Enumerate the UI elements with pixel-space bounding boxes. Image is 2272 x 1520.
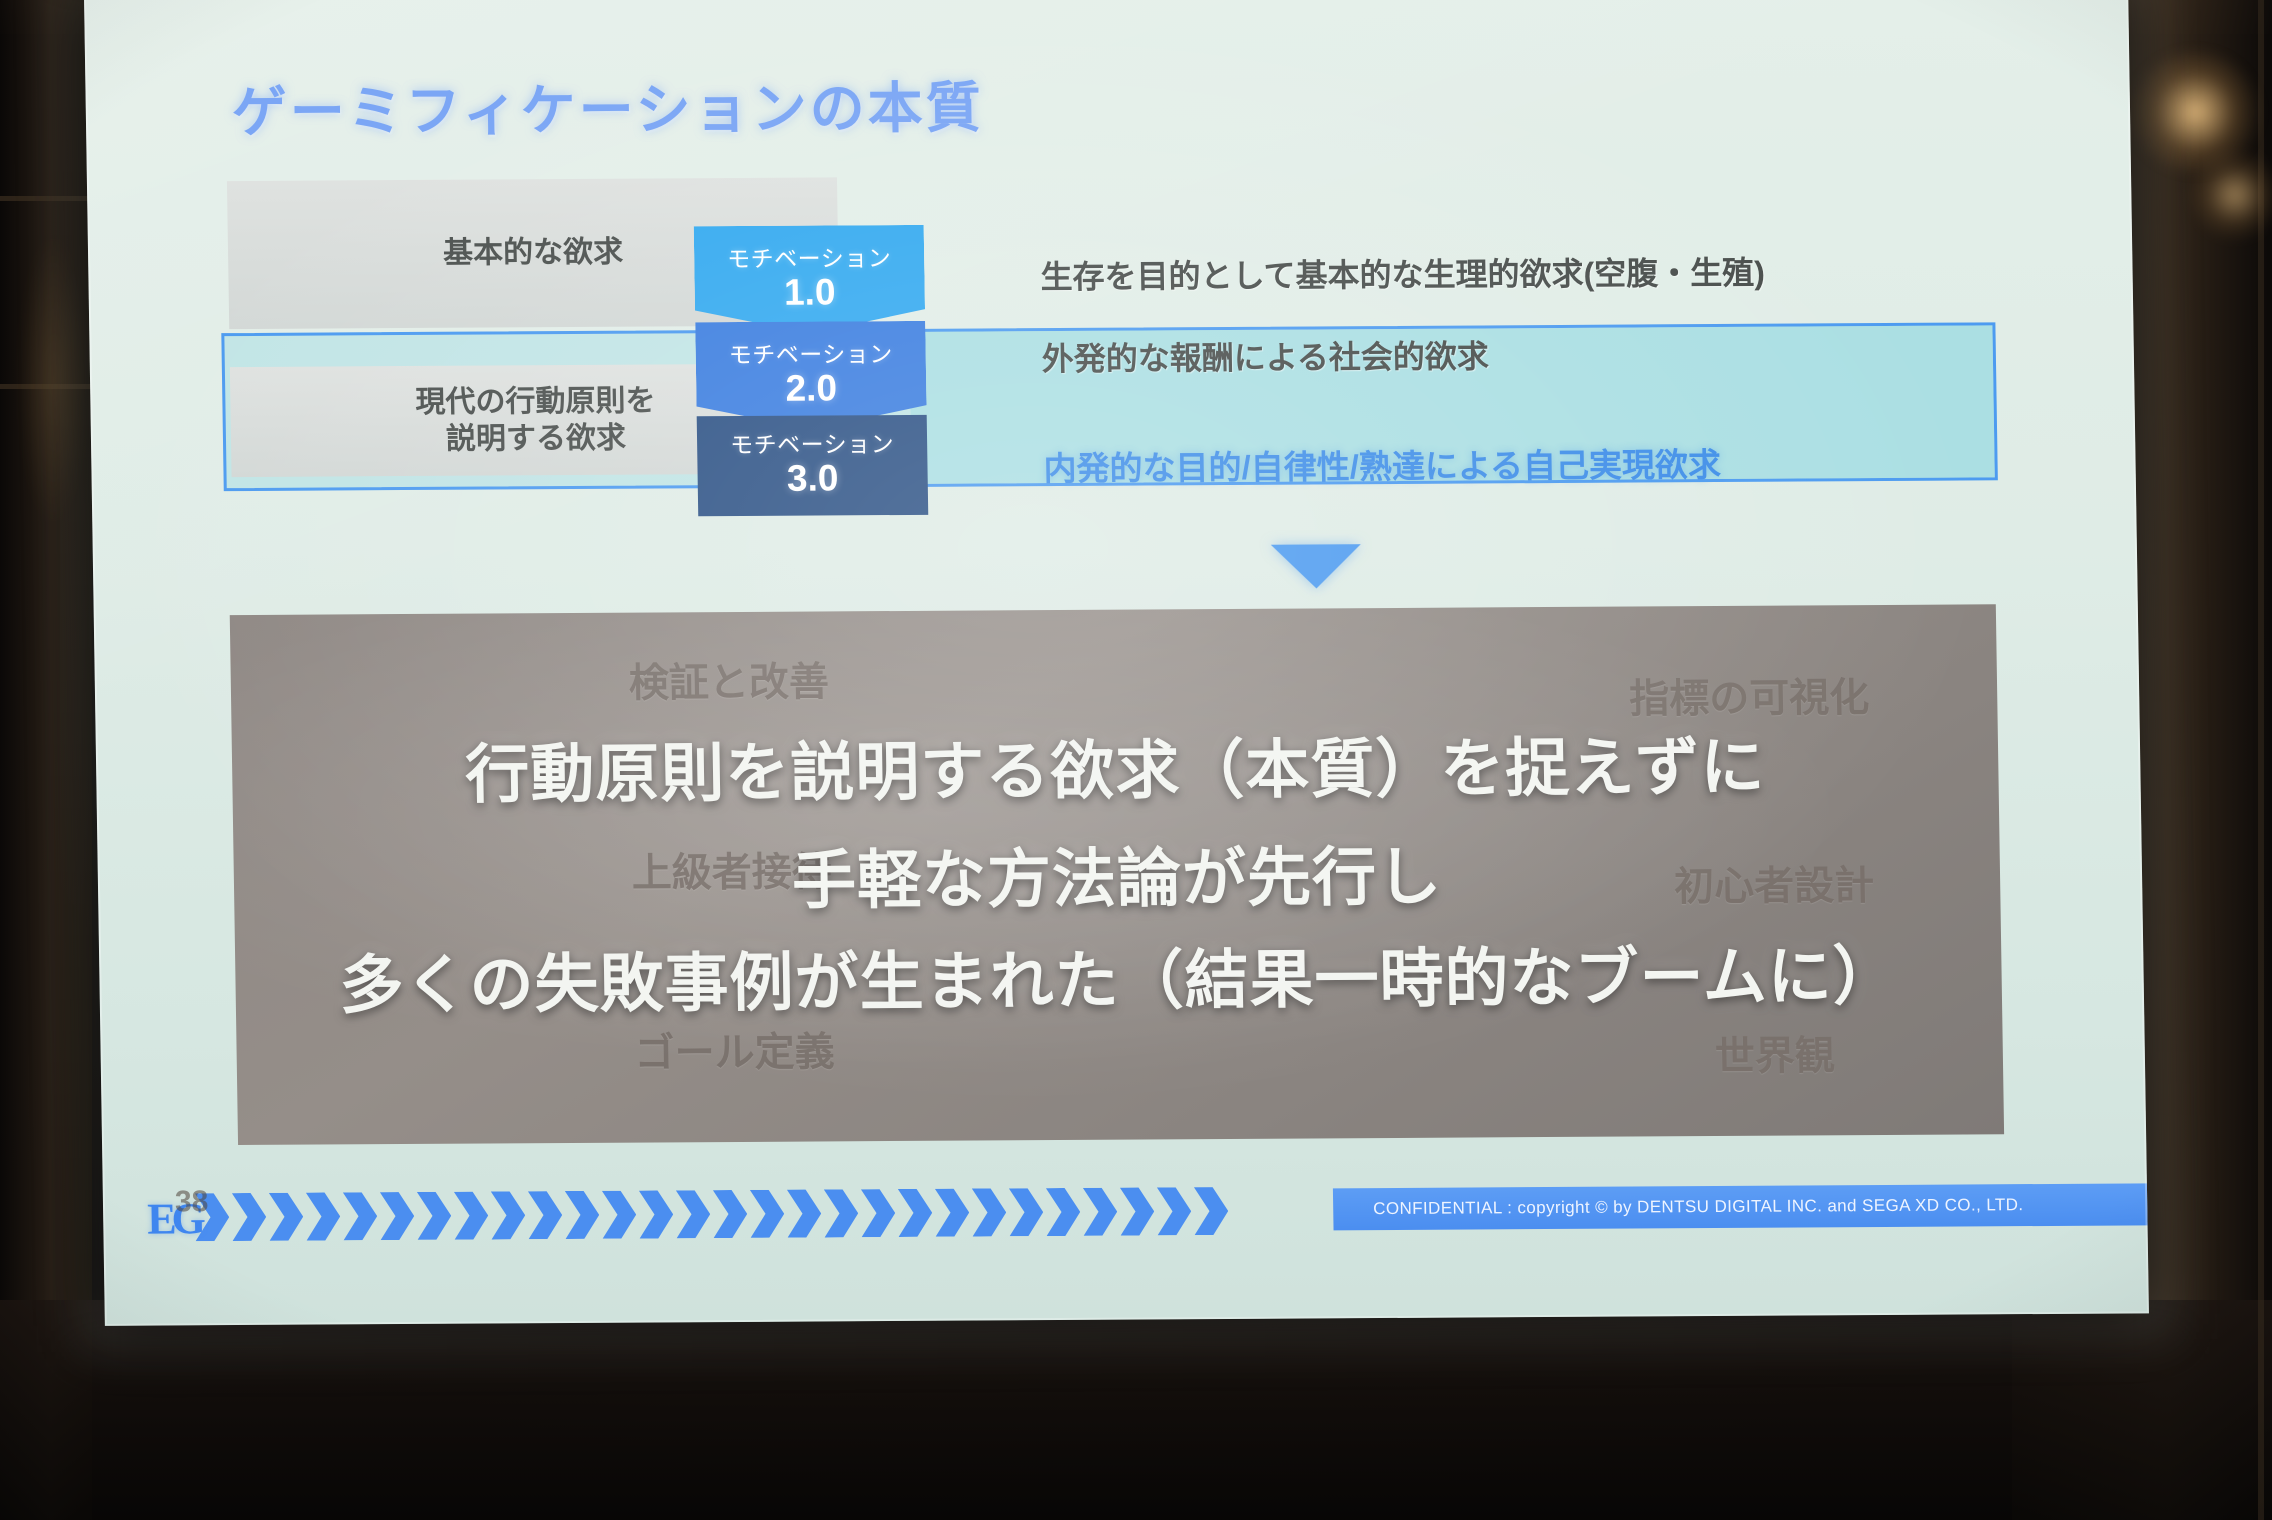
chevron-right-icon bbox=[898, 1189, 933, 1237]
chevron-right-icon bbox=[861, 1189, 896, 1237]
chevron-right-icon bbox=[306, 1192, 341, 1240]
chevron-right-icon bbox=[787, 1189, 822, 1237]
conclusion-line-3: 多くの失敗事例が生まれた（結果一時的なブームに） bbox=[235, 924, 2002, 1027]
chevron-right-icon bbox=[1157, 1187, 1192, 1235]
motivation-chevron-2-label: モチベーション bbox=[728, 342, 892, 367]
need-left-label-basic-text: 基本的な欲求 bbox=[443, 234, 624, 273]
chevron-right-icon bbox=[1083, 1188, 1118, 1236]
chevron-right-icon bbox=[676, 1190, 711, 1238]
motivation-chevron-1-label: モチベーション bbox=[727, 246, 891, 271]
chevron-right-icon bbox=[343, 1192, 378, 1240]
chevron-right-icon bbox=[1009, 1188, 1044, 1236]
need-description-3: 内発的な目的/自律性/熟達による自己実現欲求 bbox=[1043, 438, 1721, 490]
chevron-right-icon bbox=[1194, 1187, 1229, 1235]
chevron-right-icon bbox=[454, 1192, 489, 1240]
chevron-right-icon bbox=[972, 1188, 1007, 1236]
watermark-label: ゴール定義 bbox=[634, 1019, 835, 1078]
triangle-down-icon bbox=[1271, 544, 1362, 589]
chevron-right-icon bbox=[417, 1192, 452, 1240]
conclusion-panel: 検証と改善 指標の可視化 上級者接待 初心者設計 ゴール定義 世界観 行動原則を… bbox=[230, 604, 2004, 1145]
footer-chevron-strip bbox=[195, 1184, 1346, 1243]
chevron-right-icon bbox=[491, 1191, 526, 1239]
motivation-chevron-3-value: 3.0 bbox=[787, 458, 839, 499]
conclusion-line-2: 手軽な方法論が先行し bbox=[233, 822, 2000, 925]
chevron-right-icon bbox=[565, 1191, 600, 1239]
motivation-chevron-1-value: 1.0 bbox=[784, 272, 836, 313]
watermark-label: 検証と改善 bbox=[628, 649, 829, 708]
motivation-chevron-3: モチベーション 3.0 bbox=[697, 415, 929, 516]
chevron-right-icon bbox=[713, 1190, 748, 1238]
chevron-right-icon bbox=[639, 1190, 674, 1238]
presentation-slide: ゲーミフィケーションの本質 基本的な欲求 現代の行動原則を 説明する欲求 モチベ… bbox=[84, 0, 2149, 1326]
chevron-right-icon bbox=[528, 1191, 563, 1239]
chevron-right-icon bbox=[380, 1192, 415, 1240]
chevron-right-icon bbox=[935, 1189, 970, 1237]
page-number-overlay: 38 bbox=[175, 1185, 209, 1219]
chevron-right-icon bbox=[602, 1191, 637, 1239]
conclusion-line-1: 行動原則を説明する欲求（本質）を捉えずに bbox=[231, 714, 1998, 817]
need-description-2: 外発的な報酬による社会的欲求 bbox=[1041, 331, 1489, 380]
confidential-text: CONFIDENTIAL : copyright © by DENTSU DIG… bbox=[1373, 1195, 2024, 1219]
chevron-right-icon bbox=[232, 1193, 267, 1241]
ceiling-light bbox=[2190, 150, 2272, 240]
motivation-chevron-3-label: モチベーション bbox=[730, 432, 894, 457]
motivation-chevron-2-value: 2.0 bbox=[785, 368, 837, 409]
need-left-label-modern-line2: 説明する欲求 bbox=[446, 422, 627, 456]
projection-screen: ゲーミフィケーションの本質 基本的な欲求 現代の行動原則を 説明する欲求 モチベ… bbox=[84, 0, 2149, 1326]
chevron-right-icon bbox=[824, 1189, 859, 1237]
chevron-right-icon bbox=[750, 1190, 785, 1238]
slide-footer: EG 38 CONFIDENTIAL : copyright © by DENT… bbox=[103, 1177, 2148, 1251]
need-left-label-modern-line1: 現代の行動原則を bbox=[415, 384, 656, 418]
confidential-bar: CONFIDENTIAL : copyright © by DENTSU DIG… bbox=[1333, 1183, 2149, 1231]
chevron-right-icon bbox=[1046, 1188, 1081, 1236]
chevron-right-icon bbox=[1120, 1187, 1155, 1235]
watermark-label: 世界観 bbox=[1714, 1023, 1835, 1082]
need-description-1: 生存を目的として基本的な生理的欲求(空腹・生殖) bbox=[1040, 248, 1765, 298]
chevron-right-icon bbox=[269, 1193, 304, 1241]
